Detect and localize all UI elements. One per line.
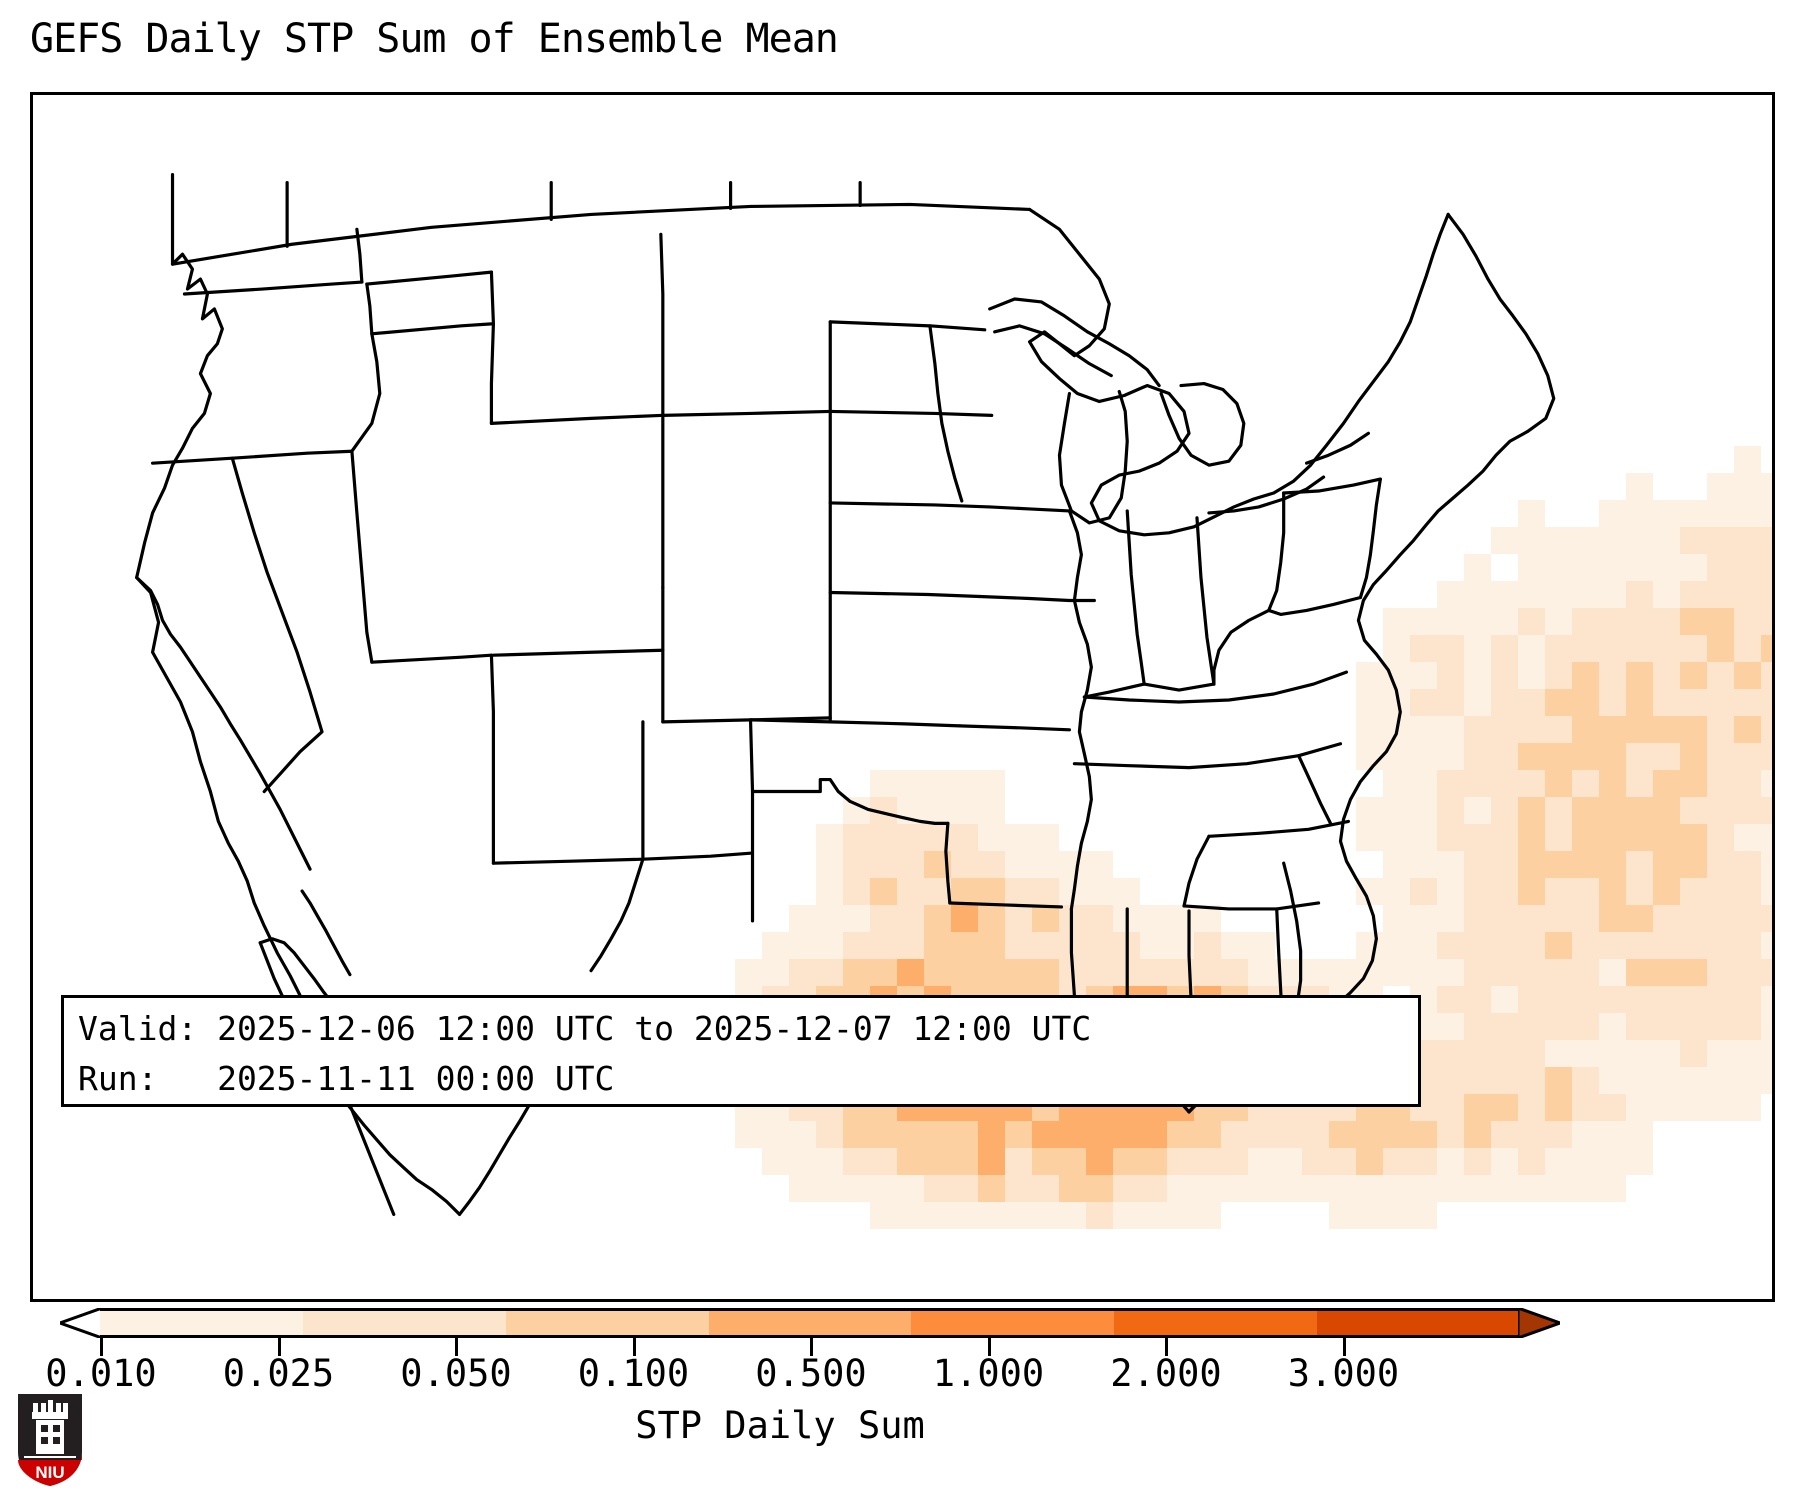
colorbar-extend-under-arrow (60, 1308, 102, 1338)
map-panel: Valid: 2025-12-06 12:00 UTC to 2025-12-0… (30, 92, 1775, 1302)
colorbar-tick-label-6: 2.000 (1110, 1352, 1221, 1395)
colorbar-segment-6 (1317, 1311, 1520, 1335)
colorbar-segment-0 (100, 1311, 303, 1335)
colorbar-extend-over-arrow (1518, 1308, 1560, 1338)
colorbar-tick-label-5: 1.000 (933, 1352, 1044, 1395)
valid-line: Valid: 2025-12-06 12:00 UTC to 2025-12-0… (78, 1004, 1404, 1054)
colorbar-tick-label-7: 3.000 (1288, 1352, 1399, 1395)
niu-logo-text: NIU (35, 1463, 64, 1482)
colorbar-tick-label-1: 0.025 (223, 1352, 334, 1395)
colorbar-segments (100, 1308, 1520, 1338)
colorbar-segment-3 (709, 1311, 912, 1335)
page-title: GEFS Daily STP Sum of Ensemble Mean (30, 16, 838, 62)
colorbar-segment-2 (506, 1311, 709, 1335)
colorbar-tick-labels: 0.0100.0250.0500.1000.5001.0002.0003.000 (0, 1352, 1803, 1398)
run-line: Run: 2025-11-11 00:00 UTC (78, 1054, 1404, 1104)
colorbar-axis-label: STP Daily Sum (0, 1404, 1560, 1447)
info-box: Valid: 2025-12-06 12:00 UTC to 2025-12-0… (61, 995, 1421, 1107)
colorbar-tick-label-2: 0.050 (400, 1352, 511, 1395)
niu-logo: NIU (14, 1390, 86, 1488)
colorbar-segment-1 (303, 1311, 506, 1335)
colorbar (60, 1308, 1520, 1342)
map-geography-svg (33, 95, 1772, 1299)
colorbar-segment-5 (1114, 1311, 1317, 1335)
colorbar-tick-label-3: 0.100 (578, 1352, 689, 1395)
colorbar-tick-label-4: 0.500 (755, 1352, 866, 1395)
colorbar-segment-4 (911, 1311, 1114, 1335)
colorbar-tick-label-0: 0.010 (45, 1352, 156, 1395)
